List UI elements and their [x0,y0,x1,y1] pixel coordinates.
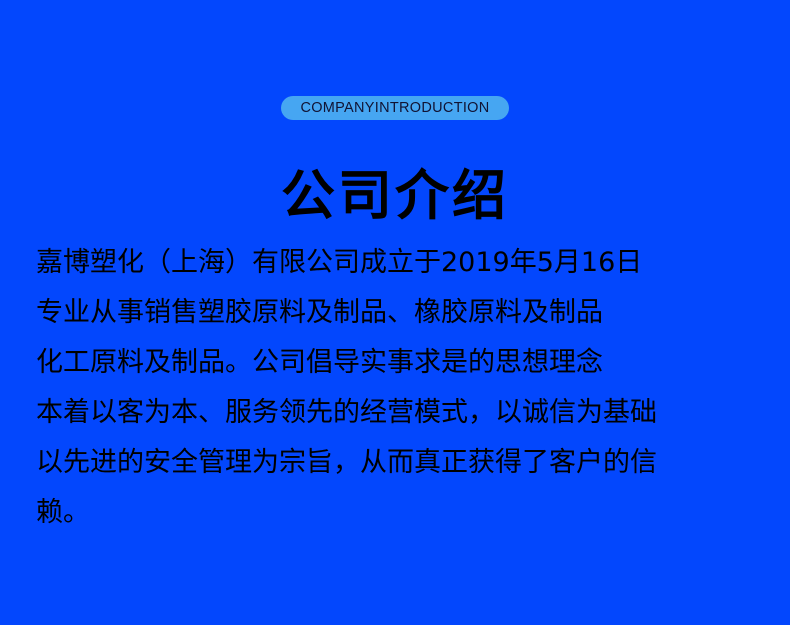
description-line: 专业从事销售塑胶原料及制品、橡胶原料及制品 [36,288,758,338]
description-line: 赖。 [36,488,758,538]
page-title: 公司介绍 [0,169,790,223]
description-line: 以先进的安全管理为宗旨，从而真正获得了客户的信 [36,438,758,488]
description-line: 化工原料及制品。公司倡导实事求是的思想理念 [36,338,758,388]
description-line: 本着以客为本、服务领先的经营模式，以诚信为基础 [36,388,758,438]
eyebrow-badge: COMPANYINTRODUCTION [281,96,508,120]
description-line: 嘉博塑化（上海）有限公司成立于2019年5月16日 [36,238,758,288]
company-introduction-banner: COMPANYINTRODUCTION 公司介绍 嘉博塑化（上海）有限公司成立于… [0,0,790,625]
company-description: 嘉博塑化（上海）有限公司成立于2019年5月16日 专业从事销售塑胶原料及制品、… [36,238,758,538]
badge-row: COMPANYINTRODUCTION [0,96,790,120]
